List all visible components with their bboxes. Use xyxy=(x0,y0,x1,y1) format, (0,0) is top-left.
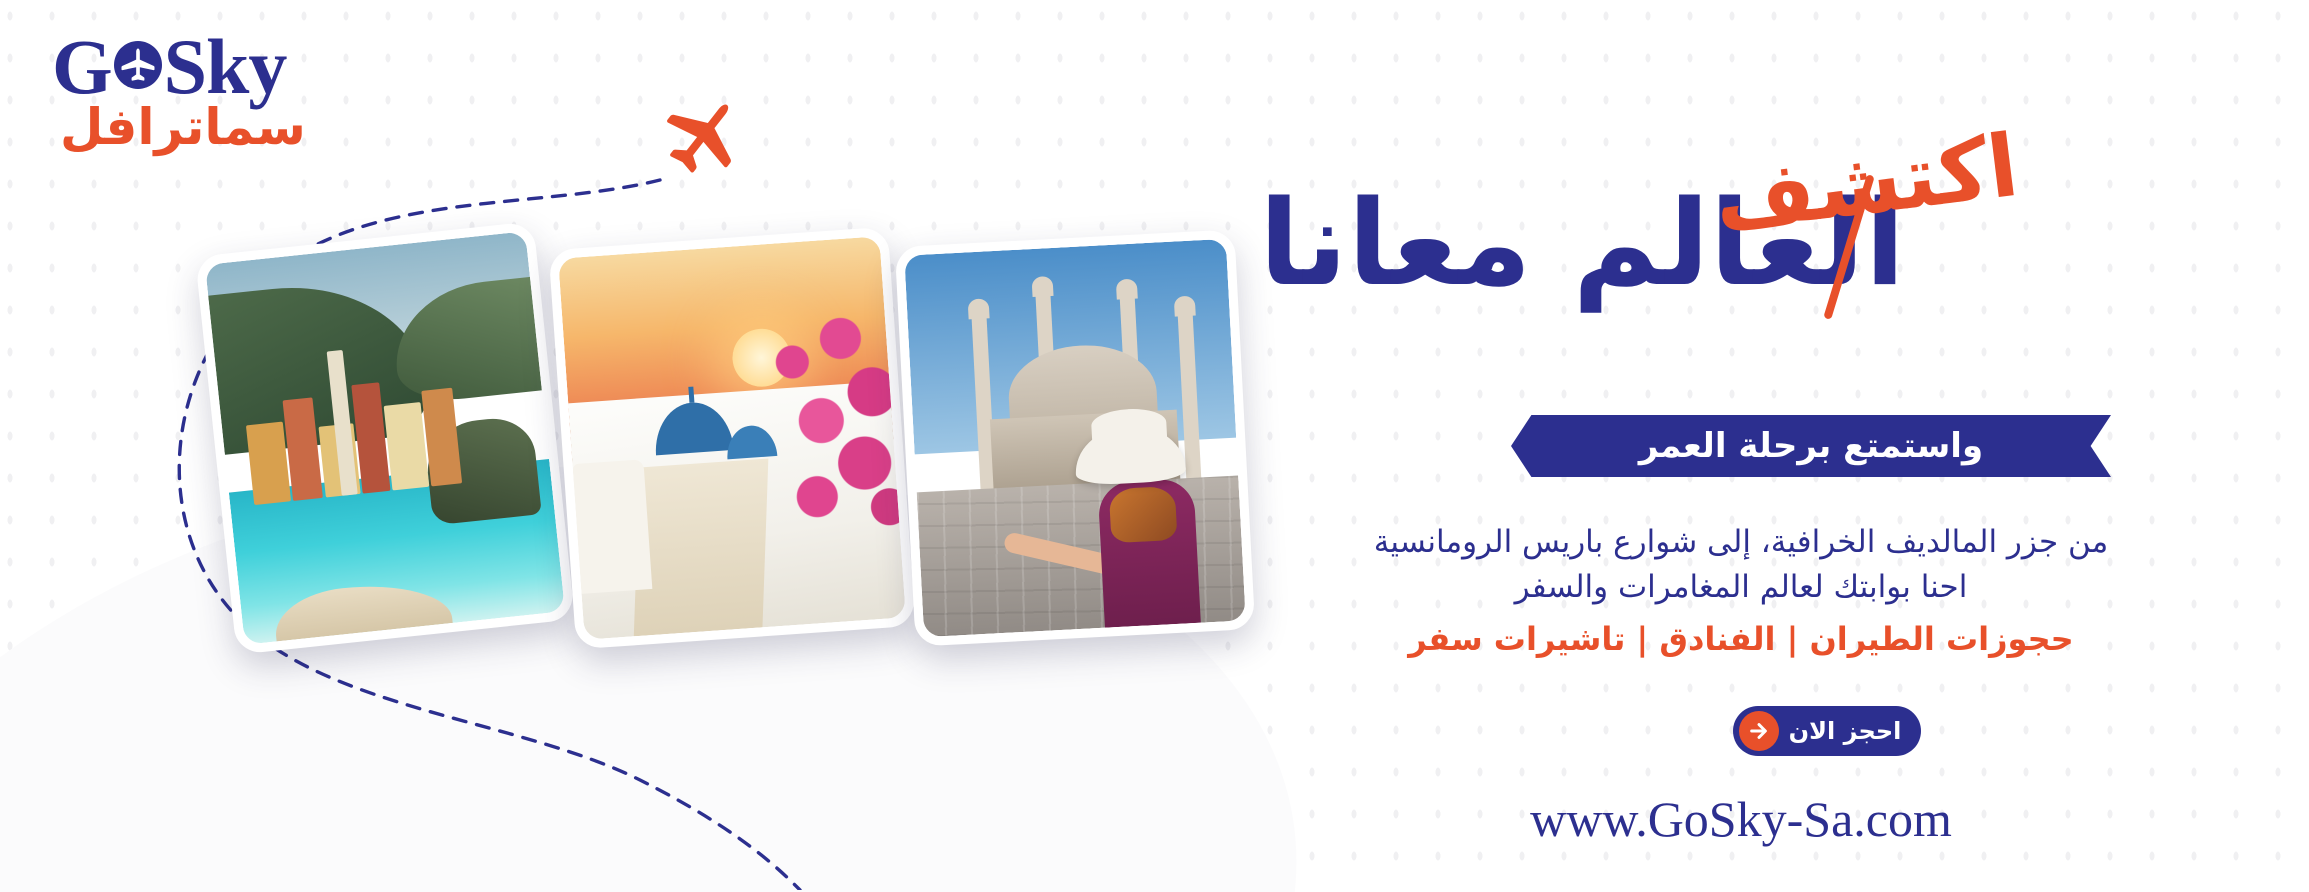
arrow-right-icon xyxy=(1739,711,1779,751)
tagline-ribbon: واستمتع برحلة العمر xyxy=(1511,415,2111,477)
orange-airplane-icon xyxy=(655,88,751,184)
description-block: من جزر المالديف الخرافية، إلى شوارع باري… xyxy=(1231,520,2251,610)
headline-group: العالم معانا اكتشف xyxy=(1231,150,2251,310)
website-url[interactable]: www.GoSky-Sa.com xyxy=(1231,790,2251,848)
description-line-2: احنا بوابتك لعالم المغامرات والسفر xyxy=(1231,565,2251,610)
logo-wordmark: G Sky xyxy=(52,28,382,106)
description-line-1: من جزر المالديف الخرافية، إلى شوارع باري… xyxy=(1231,520,2251,565)
logo-text-sky: Sky xyxy=(164,28,287,106)
ribbon-text: واستمتع برحلة العمر xyxy=(1639,426,1983,466)
travel-banner: G Sky سماترافل xyxy=(0,0,2309,892)
photo-card-cinque-terre xyxy=(195,221,575,654)
book-now-label: احجز الان xyxy=(1779,717,1915,745)
photo-card-santorini xyxy=(548,227,915,650)
brand-logo[interactable]: G Sky سماترافل xyxy=(52,28,382,155)
book-now-button[interactable]: احجز الان xyxy=(1733,706,1921,756)
services-line: حجوزات الطيران | الفنادق | تاشيرات سفر xyxy=(1231,620,2251,658)
promo-content: العالم معانا اكتشف واستمتع برحلة العمر م… xyxy=(1191,0,2251,892)
logo-letter-g: G xyxy=(52,28,112,106)
